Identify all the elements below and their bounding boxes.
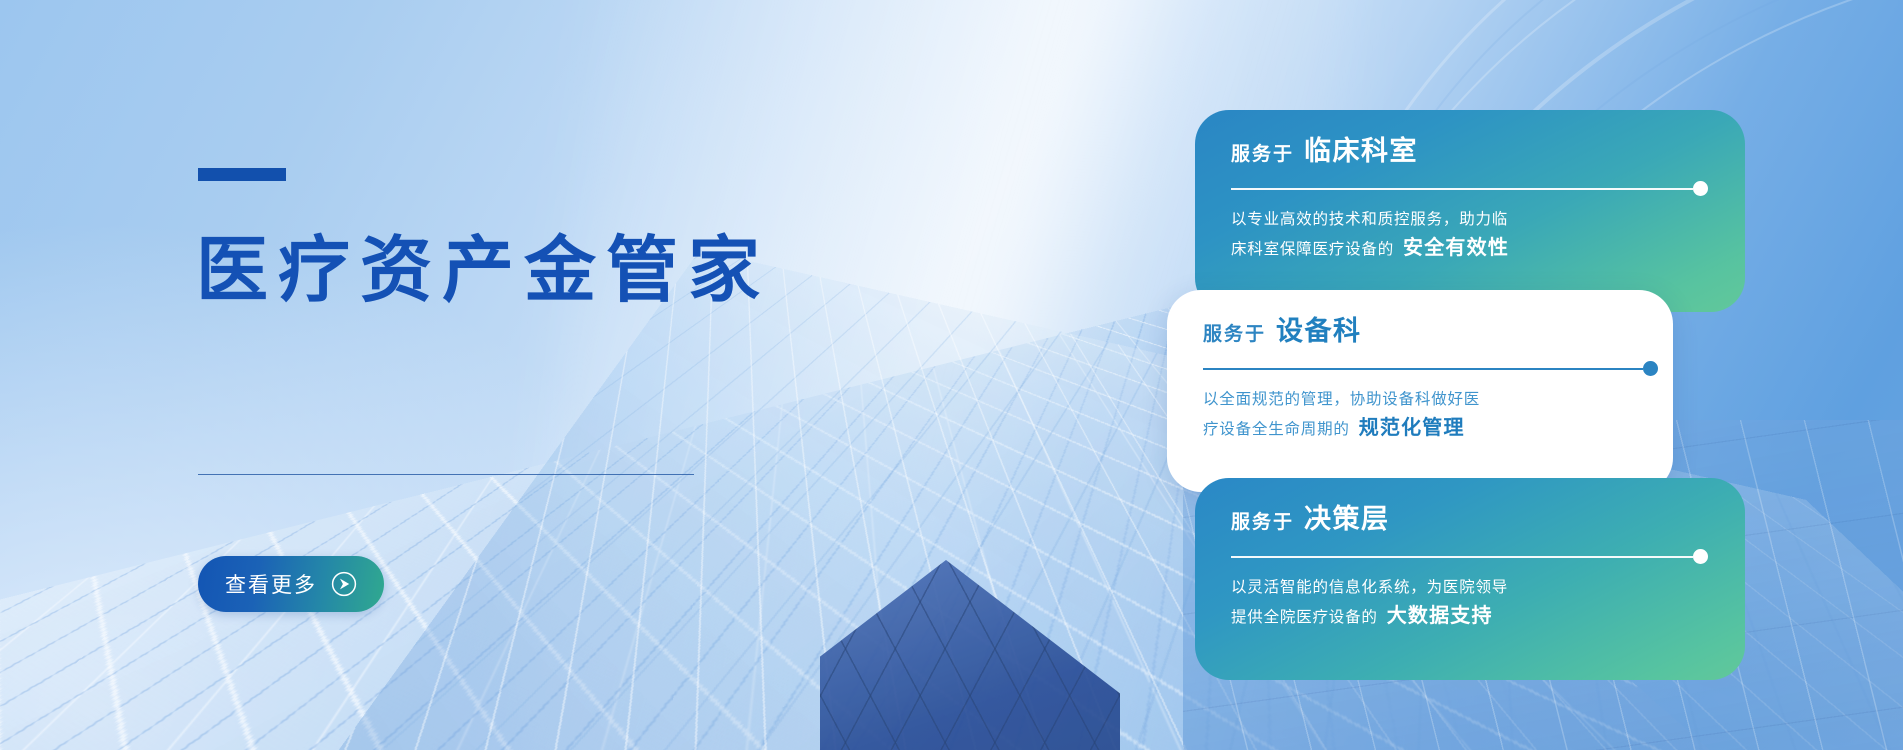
card-description: 以灵活智能的信息化系统，为医院领导 提供全院医疗设备的 大数据支持: [1231, 575, 1721, 633]
rule-line: [1203, 368, 1643, 370]
card-rule: [1203, 361, 1649, 376]
view-more-button[interactable]: 查看更多: [198, 556, 384, 612]
service-card-clinical[interactable]: 服务于 临床科室 以专业高效的技术和质控服务，助力临 床科室保障医疗设备的 安全…: [1195, 110, 1745, 312]
hero-banner: 医疗资产金管家 查看更多 服务于 临床科室 以专业高效的技术和质控服务，助力临: [0, 0, 1903, 750]
rule-line: [1231, 188, 1693, 190]
text-emphasis: 安全有效性: [1403, 237, 1509, 259]
card-heading: 服务于 设备科: [1203, 318, 1649, 345]
card-description-line2: 疗设备全生命周期的 规范化管理: [1203, 412, 1649, 444]
card-rule: [1231, 181, 1721, 196]
card-description-line1: 以专业高效的技术和质控服务，助力临: [1231, 207, 1721, 232]
text: 以灵活智能的信息化系统，为医院领导: [1231, 579, 1508, 596]
card-heading-prefix: 服务于: [1231, 512, 1294, 533]
card-description: 以全面规范的管理，协助设备科做好医 疗设备全生命周期的 规范化管理: [1203, 387, 1649, 445]
horizontal-divider: [198, 474, 694, 475]
text-emphasis: 大数据支持: [1387, 605, 1493, 627]
card-heading: 服务于 临床科室: [1231, 138, 1721, 165]
circle-arrow-right-icon: [331, 571, 357, 597]
rule-end-dot: [1693, 181, 1708, 196]
accent-dash: [198, 168, 286, 181]
card-heading-prefix: 服务于: [1231, 144, 1294, 165]
card-heading: 服务于 决策层: [1231, 506, 1721, 533]
text: 以专业高效的技术和质控服务，助力临: [1231, 211, 1508, 228]
card-description-line1: 以全面规范的管理，协助设备科做好医: [1203, 387, 1649, 412]
card-heading-target: 决策层: [1304, 504, 1390, 534]
text: 以全面规范的管理，协助设备科做好医: [1203, 391, 1480, 408]
rule-end-dot: [1693, 549, 1708, 564]
rule-line: [1231, 556, 1693, 558]
text: 提供全院医疗设备的: [1231, 609, 1378, 626]
card-description: 以专业高效的技术和质控服务，助力临 床科室保障医疗设备的 安全有效性: [1231, 207, 1721, 265]
text: 疗设备全生命周期的: [1203, 421, 1350, 438]
glass-prism: [820, 560, 1120, 750]
card-heading-prefix: 服务于: [1203, 324, 1266, 345]
card-description-line2: 床科室保障医疗设备的 安全有效性: [1231, 232, 1721, 264]
view-more-label: 查看更多: [225, 569, 317, 599]
card-content: 服务于 设备科 以全面规范的管理，协助设备科做好医 疗设备全生命周期的 规范化管…: [1203, 318, 1649, 445]
service-card-equipment-dept[interactable]: 服务于 设备科 以全面规范的管理，协助设备科做好医 疗设备全生命周期的 规范化管…: [1167, 290, 1673, 492]
page-title: 医疗资产金管家: [196, 235, 770, 307]
text: 床科室保障医疗设备的: [1231, 241, 1394, 258]
hero-left-column: 医疗资产金管家 查看更多: [198, 0, 758, 750]
rule-end-dot: [1643, 361, 1658, 376]
card-description-line1: 以灵活智能的信息化系统，为医院领导: [1231, 575, 1721, 600]
card-content: 服务于 临床科室 以专业高效的技术和质控服务，助力临 床科室保障医疗设备的 安全…: [1231, 138, 1721, 265]
card-rule: [1231, 549, 1721, 564]
service-card-decision-layer[interactable]: 服务于 决策层 以灵活智能的信息化系统，为医院领导 提供全院医疗设备的 大数据支…: [1195, 478, 1745, 680]
card-description-line2: 提供全院医疗设备的 大数据支持: [1231, 600, 1721, 632]
card-heading-target: 设备科: [1276, 316, 1362, 346]
card-heading-target: 临床科室: [1304, 136, 1418, 166]
card-content: 服务于 决策层 以灵活智能的信息化系统，为医院领导 提供全院医疗设备的 大数据支…: [1231, 506, 1721, 633]
text-emphasis: 规范化管理: [1359, 417, 1465, 439]
